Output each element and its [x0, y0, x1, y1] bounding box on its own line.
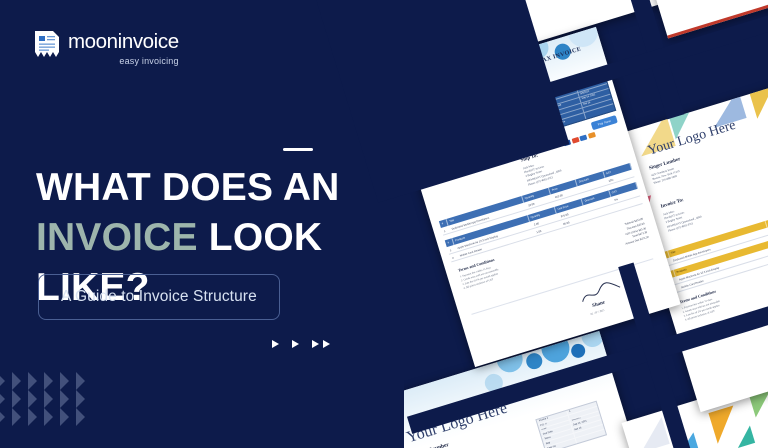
hero-panel: mooninvoice easy invoicing WHAT DOES AN …	[0, 0, 440, 448]
ship-to-address: Jack Mars Herald IT services 2 Bagley St…	[523, 157, 564, 188]
play-arrow-icon	[292, 340, 299, 348]
signature-date: 02 / 07 / 2021	[590, 309, 605, 317]
brand-tagline: easy invoicing	[68, 56, 179, 66]
invoice-document-icon	[34, 30, 60, 60]
guide-cta-button[interactable]: A Guide to Invoice Structure	[38, 274, 280, 320]
triangle-teal	[733, 426, 755, 448]
headline-line-1: WHAT DOES AN	[36, 166, 340, 209]
title-divider	[283, 148, 313, 151]
chevron-pattern	[0, 372, 92, 426]
play-arrow-icon	[323, 340, 330, 348]
pay-now-button[interactable]: Pay Now	[591, 115, 618, 130]
brand-logo[interactable]: mooninvoice easy invoicing	[34, 30, 179, 66]
triangle-gold	[749, 82, 768, 119]
arrow-decoration	[272, 340, 330, 348]
play-arrow-icon	[272, 340, 279, 348]
play-arrow-icon	[312, 340, 319, 348]
bill-to-address: Jack Mars Herald IT services 2 Bagley St…	[663, 203, 704, 234]
brand-name: mooninvoice	[68, 32, 179, 53]
triangle-outline	[633, 417, 670, 448]
invoice-guide-banner: Jack 02 / 07 / 2021 Notes: 1. Payment du…	[0, 0, 768, 448]
headline-accent: INVOICE	[36, 216, 198, 259]
